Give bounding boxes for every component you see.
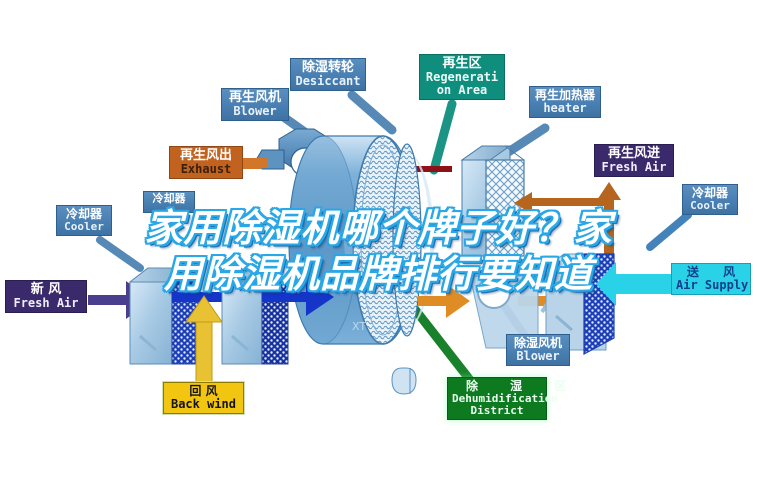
label-air-supply-cn: 送 风	[676, 266, 746, 279]
label-back-wind-en: Back wind	[168, 398, 239, 411]
label-fresh-air-in-en: Fresh Air	[10, 297, 82, 310]
regeneration-heater-coil	[462, 146, 524, 256]
label-dehumid-blower-en: Blower	[511, 350, 565, 363]
label-desiccant-wheel-en: Desiccant	[295, 75, 361, 88]
label-dehumidification-district[interactable]: 除 湿 区 Dehumidification District	[447, 377, 547, 420]
label-regeneration-area[interactable]: 再生区 Regenerati on Area	[419, 54, 505, 100]
label-regen-heater-en: heater	[534, 102, 596, 115]
cooler-coil-1	[130, 268, 200, 364]
label-regen-exhaust-en: Exhaust	[174, 163, 238, 176]
label-dehumid-blower-cn: 除湿风机	[511, 337, 565, 350]
label-regen-fresh-air[interactable]: 再生风进 Fresh Air	[594, 144, 674, 177]
label-regen-blower[interactable]: 再生风机 Blower	[221, 88, 289, 121]
label-back-wind-cn: 回 风	[168, 385, 239, 398]
regeneration-sector	[393, 144, 434, 336]
label-cooler-left-en: Cooler	[61, 221, 107, 233]
label-dehumid-district-cn: 除 湿 区	[452, 380, 542, 393]
label-desiccant-wheel[interactable]: 除湿转轮 Desiccant	[290, 58, 366, 91]
label-cooler-mid[interactable]: 冷却器	[143, 191, 195, 213]
label-back-wind[interactable]: 回 风 Back wind	[163, 382, 244, 414]
svg-text:XT: XT	[352, 320, 366, 333]
dehumidifier-schematic: XT	[0, 0, 757, 488]
label-regen-blower-cn: 再生风机	[226, 91, 284, 105]
label-fresh-air-in[interactable]: 新 风 Fresh Air	[5, 280, 87, 313]
label-cooler-right-cn: 冷却器	[687, 187, 733, 200]
label-cooler-right-en: Cooler	[687, 200, 733, 212]
label-regen-fresh-air-en: Fresh Air	[599, 161, 669, 174]
label-air-supply[interactable]: 送 风 Air Supply	[671, 263, 751, 295]
label-regen-blower-en: Blower	[226, 105, 284, 118]
label-regen-fresh-air-cn: 再生风进	[599, 147, 669, 161]
label-cooler-left-cn: 冷却器	[61, 208, 107, 221]
label-cooler-right[interactable]: 冷却器 Cooler	[682, 184, 738, 215]
label-regen-exhaust-cn: 再生风出	[174, 149, 238, 163]
label-regen-exhaust[interactable]: 再生风出 Exhaust	[169, 146, 243, 179]
label-regeneration-area-en-2: on Area	[424, 84, 500, 97]
label-air-supply-en: Air Supply	[676, 279, 746, 292]
diagram-canvas: XT	[0, 0, 757, 488]
label-regen-heater-cn: 再生加热器	[534, 89, 596, 102]
label-cooler-mid-cn: 冷却器	[148, 193, 190, 205]
cooler-coil-2	[222, 268, 288, 364]
label-dehumid-blower[interactable]: 除湿风机 Blower	[506, 334, 570, 366]
label-desiccant-wheel-cn: 除湿转轮	[295, 61, 361, 75]
label-regeneration-area-cn: 再生区	[424, 57, 500, 71]
condensate-drain	[392, 368, 416, 394]
label-dehumid-district-en-2: District	[452, 405, 542, 417]
label-fresh-air-in-cn: 新 风	[10, 283, 82, 297]
label-regen-heater[interactable]: 再生加热器 heater	[529, 86, 601, 118]
label-cooler-left[interactable]: 冷却器 Cooler	[56, 205, 112, 236]
